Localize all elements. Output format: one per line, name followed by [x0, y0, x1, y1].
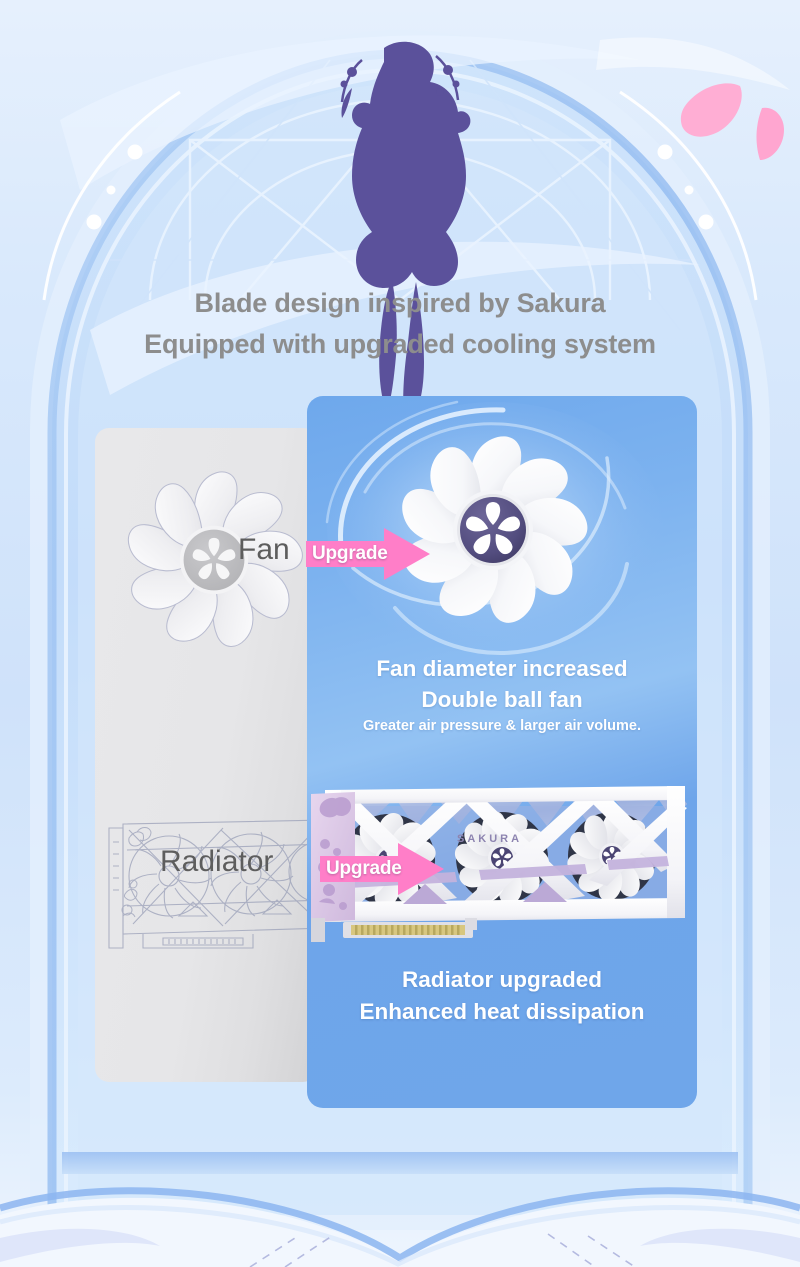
old-panel-fan-label: Fan — [238, 533, 290, 567]
fan-subcaption: Greater air pressure & larger air volume… — [307, 718, 697, 734]
old-hardware-panel — [95, 428, 317, 1082]
new-hardware-panel: Fan diameter increased Double ball fan G… — [307, 396, 697, 1108]
old-panel-radiator-label: Radiator — [160, 845, 273, 879]
headline-line-1: Blade design inspired by Sakura — [195, 288, 606, 318]
upgrade-arrow-radiator: Upgrade — [320, 843, 444, 895]
gpu-brand-text: SAKURA — [457, 833, 522, 845]
page-title: Blade design inspired by Sakura Equipped… — [0, 283, 800, 365]
fan-caption-line-2: Double ball fan — [307, 685, 697, 716]
gpu-line-art-icon — [103, 798, 317, 968]
upgrade-arrow-fan: Upgrade — [306, 528, 430, 580]
upgrade-label-fan: Upgrade — [306, 528, 430, 580]
radiator-caption-line-2: Enhanced heat dissipation — [307, 996, 697, 1028]
fan-caption-line-1: Fan diameter increased — [307, 654, 697, 685]
radiator-caption: Radiator upgraded Enhanced heat dissipat… — [307, 964, 697, 1028]
fan-caption: Fan diameter increased Double ball fan G… — [307, 654, 697, 734]
radiator-caption-line-1: Radiator upgraded — [307, 964, 697, 996]
headline-line-2: Equipped with upgraded cooling system — [0, 324, 800, 365]
upgrade-label-radiator: Upgrade — [320, 843, 444, 895]
product-infographic-page: Blade design inspired by Sakura Equipped… — [0, 0, 800, 1267]
